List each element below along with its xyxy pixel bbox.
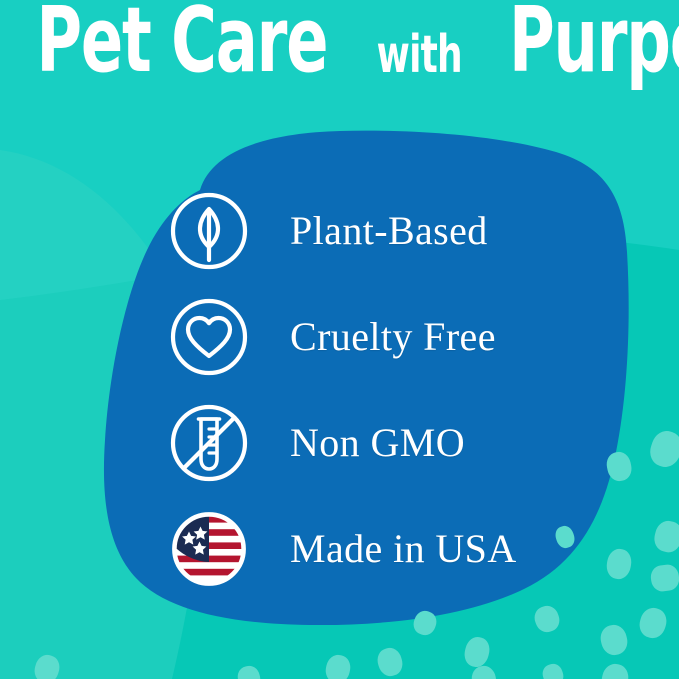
no-gmo-icon	[168, 402, 250, 484]
usa-flag-icon	[168, 508, 250, 590]
claims-list: Plant-Based Cruelty Free	[168, 178, 588, 602]
claim-label-plant-based: Plant-Based	[290, 211, 488, 251]
headline-part-1: Pet Care	[36, 0, 327, 86]
claim-item-non-gmo: Non GMO	[168, 390, 588, 496]
claim-label-cruelty-free: Cruelty Free	[290, 317, 496, 357]
claim-label-made-in-usa: Made in USA	[290, 529, 517, 569]
heart-icon	[168, 296, 250, 378]
claim-item-made-in-usa: Made in USA	[168, 496, 588, 602]
claim-item-plant-based: Plant-Based	[168, 178, 588, 284]
claim-label-non-gmo: Non GMO	[290, 423, 465, 463]
headline-part-2: with	[375, 29, 463, 80]
headline-part-3: Purpose	[509, 0, 679, 86]
claim-item-cruelty-free: Cruelty Free	[168, 284, 588, 390]
leaf-icon	[168, 190, 250, 272]
promo-banner: Pet CarewithPurpose® Plant-Based	[0, 0, 679, 679]
page-title: Pet CarewithPurpose®	[0, 8, 679, 86]
